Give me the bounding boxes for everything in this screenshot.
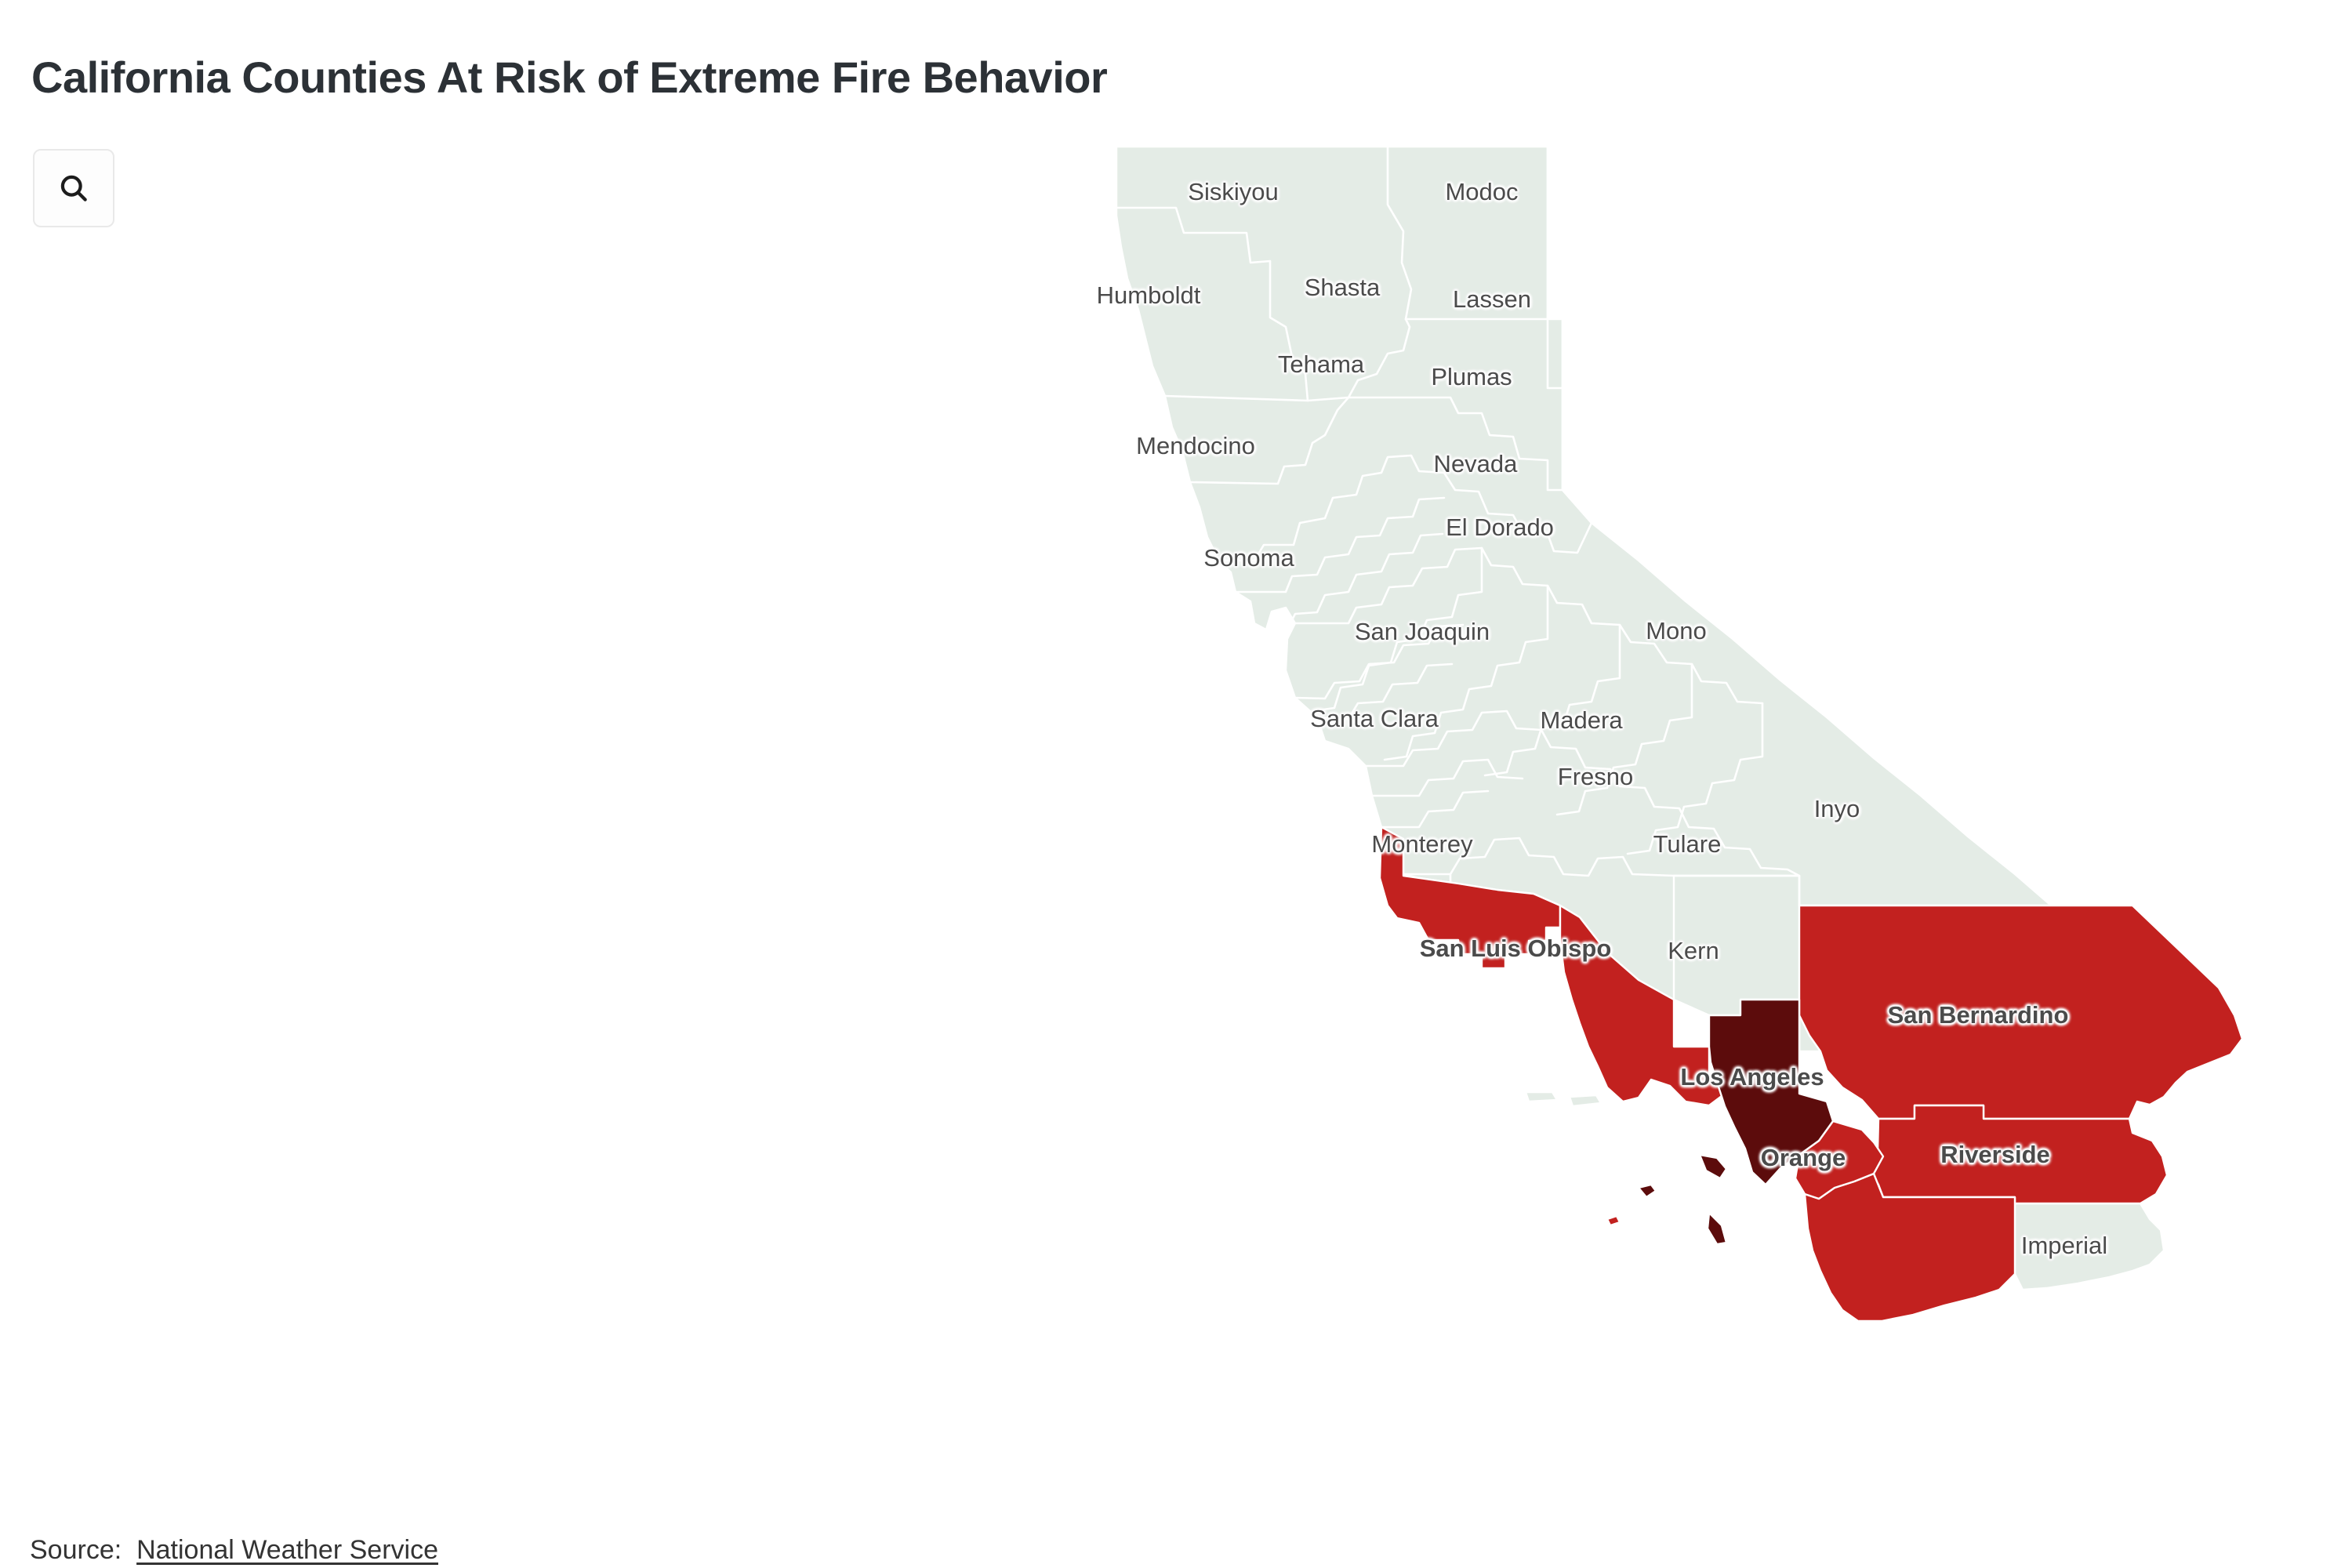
island-san-miguel bbox=[1526, 1092, 1557, 1102]
search-icon bbox=[56, 171, 91, 205]
island-santa-catalina bbox=[1639, 1185, 1656, 1197]
california-map[interactable]: SiskiyouModocHumboldtShastaLassenTehamaP… bbox=[1090, 122, 2281, 1486]
source-label: Source: bbox=[30, 1535, 122, 1565]
island-san-clemente bbox=[1700, 1155, 1726, 1178]
island-santa-cruz bbox=[1570, 1095, 1601, 1106]
map-svg bbox=[1090, 122, 2281, 1486]
page-title: California Counties At Risk of Extreme F… bbox=[31, 52, 1107, 103]
source-link[interactable]: National Weather Service bbox=[136, 1535, 438, 1565]
island-santa-barbara bbox=[1708, 1213, 1726, 1244]
county-kern[interactable] bbox=[1674, 876, 1799, 1015]
source-line: Source: National Weather Service bbox=[30, 1535, 438, 1566]
island-santa-rosa bbox=[1607, 1216, 1620, 1225]
county-riverside[interactable] bbox=[1870, 1105, 2167, 1203]
county-imperial[interactable] bbox=[2015, 1203, 2164, 1290]
search-button[interactable] bbox=[33, 149, 114, 227]
county-san-bernardino[interactable] bbox=[1799, 906, 2242, 1119]
